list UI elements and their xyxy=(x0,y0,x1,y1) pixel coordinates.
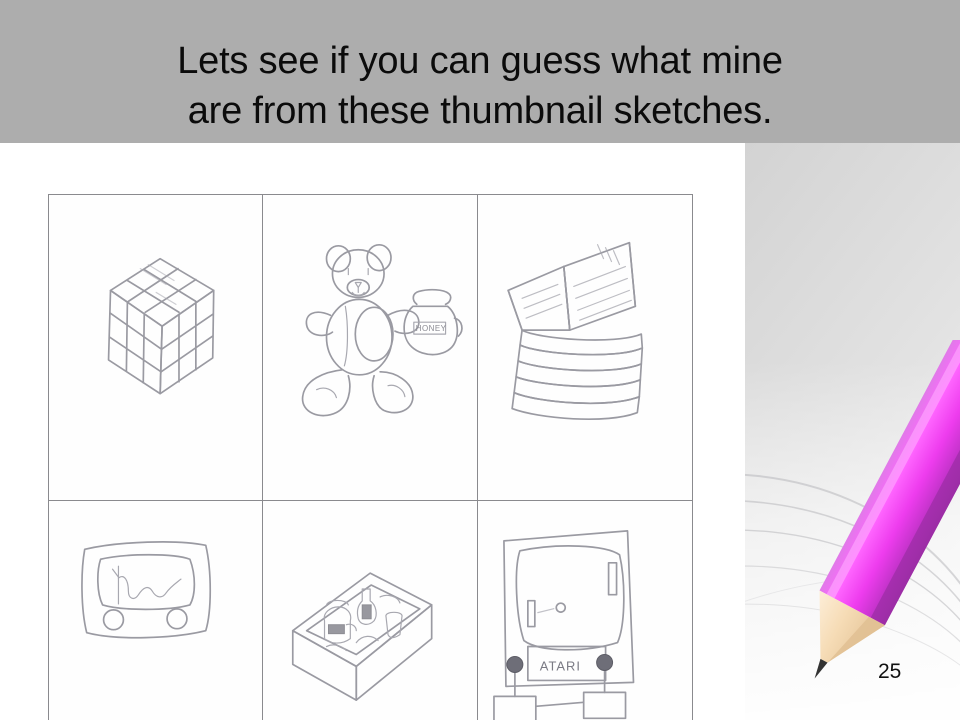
slide-title: Lets see if you can guess what mine are … xyxy=(40,36,920,136)
thumbnail-sketch-grid: HONEY xyxy=(48,194,693,720)
sketch-cell-toy-box xyxy=(263,501,477,720)
honey-pot-label: HONEY xyxy=(416,324,447,333)
sketch-cell-television xyxy=(49,501,263,720)
sketch-cell-teddy-bear: HONEY xyxy=(263,195,477,501)
teddy-bear-drawing: HONEY xyxy=(263,195,476,500)
toy-box-drawing xyxy=(263,501,476,720)
slide-number: 25 xyxy=(878,660,901,684)
sketch-image-panel: HONEY xyxy=(0,143,745,720)
atari-console-drawing: ATARI xyxy=(478,501,692,720)
rubiks-cube-drawing xyxy=(49,195,262,500)
slide: Lets see if you can guess what mine are … xyxy=(0,0,960,720)
atari-console-label: ATARI xyxy=(539,658,580,673)
sketch-cell-atari-console: ATARI xyxy=(478,501,692,720)
sketch-cell-rubiks-cube xyxy=(49,195,263,501)
sketch-cell-book-stack xyxy=(478,195,692,501)
book-stack-drawing xyxy=(478,195,692,500)
title-band: Lets see if you can guess what mine are … xyxy=(0,0,960,143)
television-drawing xyxy=(49,501,262,720)
